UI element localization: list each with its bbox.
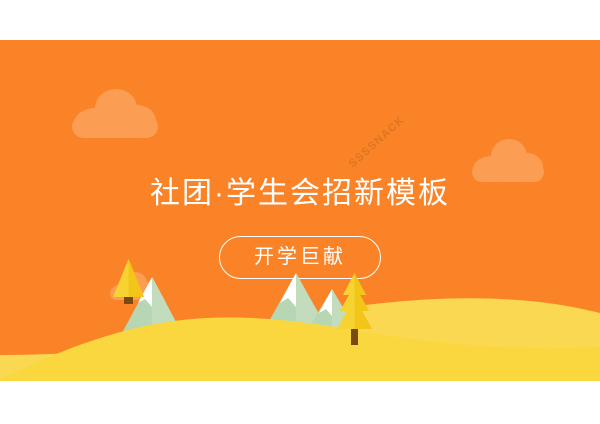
slide-preview-page: SSSSNACK 社团·学生会招新模板 开学巨献 [0,0,600,424]
scenery-illustration [0,251,600,381]
watermark-text: SSSSNACK [340,107,415,176]
cloud-top-left-icon [72,88,158,138]
scenery-svg [0,251,600,381]
tree-left-icon [113,259,144,304]
slide-canvas[interactable]: SSSSNACK 社团·学生会招新模板 开学巨献 [0,40,600,381]
slide-title: 社团·学生会招新模板 [0,175,600,213]
